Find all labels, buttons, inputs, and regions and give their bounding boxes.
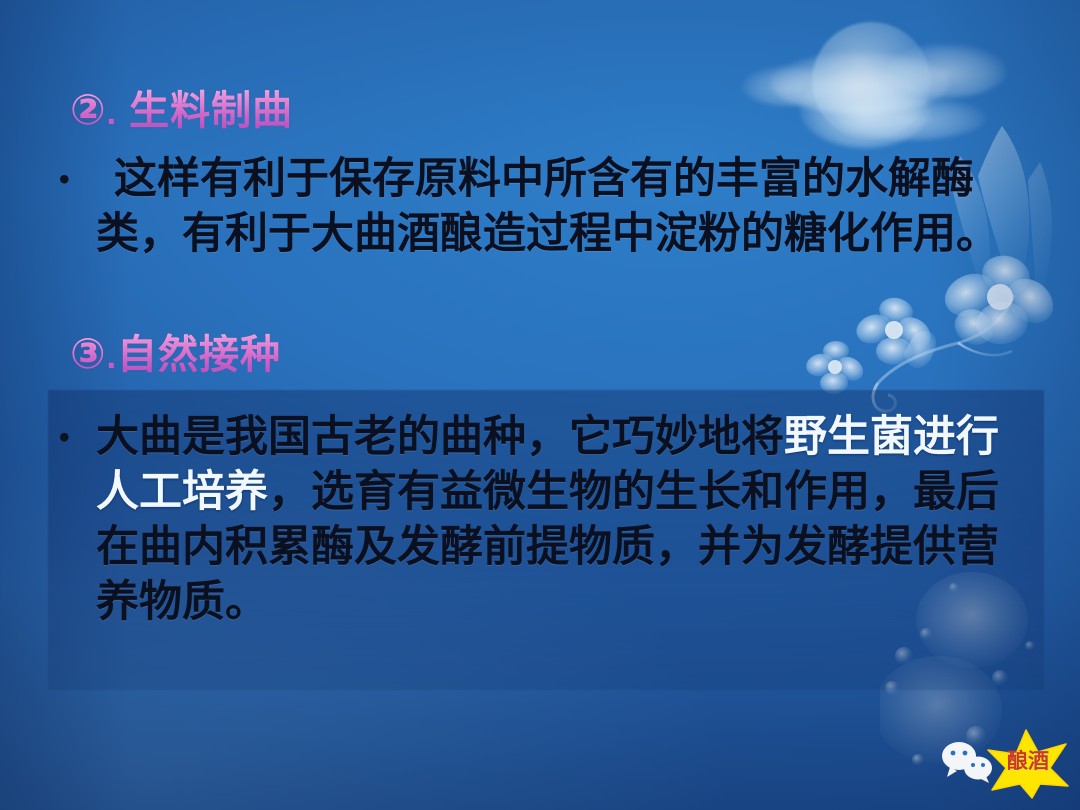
heading-dot: . xyxy=(107,94,117,132)
bullet-marker-icon: • xyxy=(58,152,96,206)
bullet-item: • 大曲是我国古老的曲种，它巧妙地将野生菌进行人工培养，选育有益微生物的生长和作… xyxy=(58,410,1038,630)
heading-natural-inoculation: ③.自然接种 xyxy=(70,330,281,378)
bullet-paragraph: 这样有利于保存原料中所含有的丰富的水解酶类，有利于大曲酒酿造过程中淀粉的糖化作用… xyxy=(96,152,1012,262)
bullet-item: • 这样有利于保存原料中所含有的丰富的水解酶类，有利于大曲酒酿造过程中淀粉的糖化… xyxy=(58,152,1018,262)
slide-canvas: ②. 生料制曲 • 这样有利于保存原料中所含有的丰富的水解酶类，有利于大曲酒酿造… xyxy=(0,0,1080,810)
heading-dot: . xyxy=(107,338,117,376)
heading-number: ③ xyxy=(70,330,107,377)
slide-content: ②. 生料制曲 • 这样有利于保存原料中所含有的丰富的水解酶类，有利于大曲酒酿造… xyxy=(0,0,1080,810)
heading-raw-material-qu: ②. 生料制曲 xyxy=(70,86,293,134)
watermark-logo: 酿酒 xyxy=(940,726,1072,802)
watermark-label: 酿酒 xyxy=(988,750,1068,773)
heading-text: 生料制曲 xyxy=(129,89,293,133)
bullet-segment-normal: 大曲是我国古老的曲种，它巧妙地将 xyxy=(96,414,784,461)
heading-number: ② xyxy=(70,86,107,133)
bullet-paragraph: 大曲是我国古老的曲种，它巧妙地将野生菌进行人工培养，选育有益微生物的生长和作用，… xyxy=(96,410,1026,630)
heading-text: 自然接种 xyxy=(117,333,281,377)
bullet-marker-icon: • xyxy=(58,410,96,464)
